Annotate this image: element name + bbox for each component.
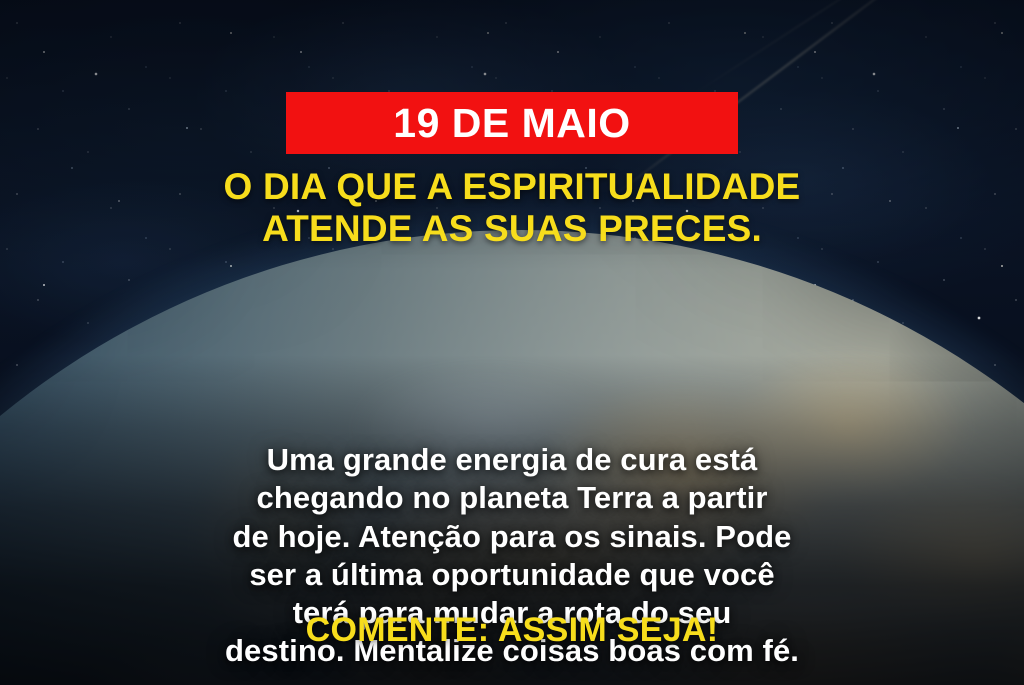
body-line-3: de hoje. Atenção para os sinais. Pode (26, 518, 998, 556)
headline-line-1: O DIA QUE A ESPIRITUALIDADE (24, 166, 1000, 208)
poster-canvas: 19 DE MAIO O DIA QUE A ESPIRITUALIDADE A… (0, 0, 1024, 685)
date-banner-text: 19 DE MAIO (393, 103, 630, 144)
date-banner: 19 DE MAIO (286, 92, 738, 154)
content-layer: 19 DE MAIO O DIA QUE A ESPIRITUALIDADE A… (0, 0, 1024, 685)
headline: O DIA QUE A ESPIRITUALIDADE ATENDE AS SU… (0, 166, 1024, 250)
call-to-action-text: COMENTE: ASSIM SEJA! (0, 612, 1024, 649)
headline-line-2: ATENDE AS SUAS PRECES. (24, 208, 1000, 250)
body-line-4: ser a última oportunidade que você (26, 556, 998, 594)
body-line-2: chegando no planeta Terra a partir (26, 479, 998, 517)
body-line-1: Uma grande energia de cura está (26, 441, 998, 479)
